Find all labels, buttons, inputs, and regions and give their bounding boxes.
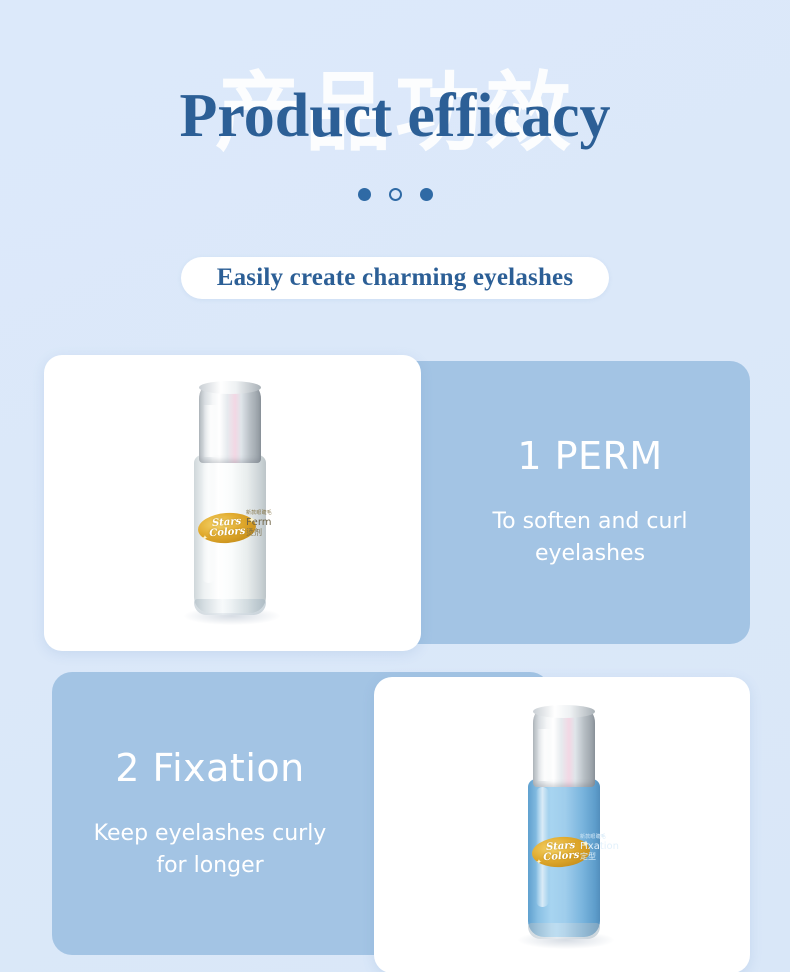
star-icon: ✦ — [202, 535, 208, 542]
carousel-dot-2[interactable] — [389, 188, 402, 201]
subtitle-banner: Easily create charming eyelashes — [181, 257, 609, 299]
bottle-base — [194, 599, 266, 615]
bottle-cap-top — [533, 705, 595, 718]
logo-line-2: Colors — [209, 527, 246, 539]
bottle-cap-highlight — [203, 405, 219, 457]
feature-description-fixation: Keep eyelashes curly for longer — [85, 818, 335, 882]
subtitle-text: Easily create charming eyelashes — [217, 264, 574, 292]
star-icon: ✦ — [248, 516, 256, 525]
star-icon: ✦ — [536, 859, 542, 866]
carousel-dots — [0, 188, 790, 201]
page-title: Product efficacy — [0, 82, 790, 150]
perm-bottle-image: Stars Colors ✦ ✦ 新款眼睫毛 Perm 烫剂 — [172, 385, 292, 625]
carousel-dot-3[interactable] — [420, 188, 433, 201]
logo-line-2: Colors — [543, 851, 580, 863]
feature-row-perm: Stars Colors ✦ ✦ 新款眼睫毛 Perm 烫剂 1 PERM To… — [0, 355, 790, 655]
feature-text-fixation: 2 Fixation Keep eyelashes curly for long… — [60, 685, 360, 945]
header-section: 产品功效 Product efficacy — [0, 0, 790, 240]
feature-row-fixation: Stars Colors ✦ ✦ 新款眼睫毛 Fixation 定型 2 Fix… — [0, 665, 790, 965]
bottle-cap-top — [199, 381, 261, 394]
product-efficacy-page: 产品功效 Product efficacy Easily create char… — [0, 0, 790, 972]
product-image-card-perm: Stars Colors ✦ ✦ 新款眼睫毛 Perm 烫剂 — [44, 355, 421, 651]
carousel-dot-1[interactable] — [358, 188, 371, 201]
feature-text-perm: 1 PERM To soften and curl eyelashes — [440, 373, 740, 633]
feature-description-perm: To soften and curl eyelashes — [465, 506, 715, 570]
bottle-base — [528, 923, 600, 939]
label-cjk-text: 定型 — [580, 852, 606, 861]
feature-heading-fixation: 2 Fixation — [115, 748, 304, 790]
feature-heading-perm: 1 PERM — [517, 436, 662, 478]
fixation-bottle-image: Stars Colors ✦ ✦ 新款眼睫毛 Fixation 定型 — [506, 709, 626, 949]
product-image-card-fixation: Stars Colors ✦ ✦ 新款眼睫毛 Fixation 定型 — [374, 677, 750, 972]
label-cjk-text: 烫剂 — [246, 528, 272, 537]
star-icon: ✦ — [582, 840, 590, 849]
bottle-cap-highlight — [537, 729, 553, 781]
